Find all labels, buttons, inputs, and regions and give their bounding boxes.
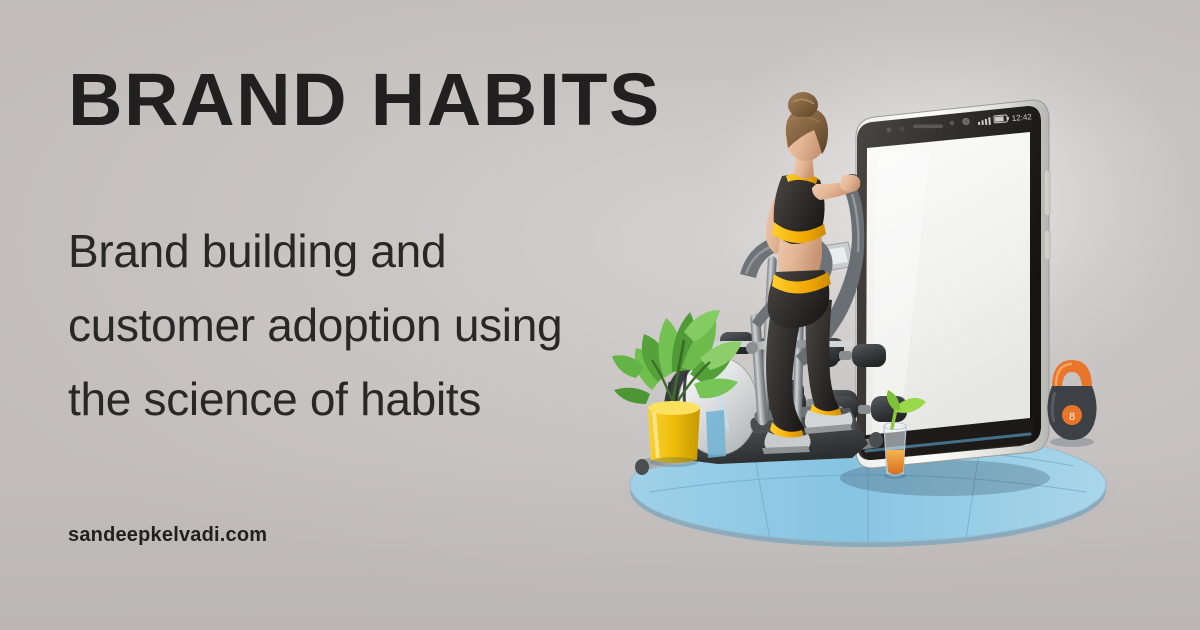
glass-liquid <box>886 450 905 474</box>
text-block: BRAND HABITS Brand building and customer… <box>68 62 768 436</box>
speaker-grille-icon <box>913 125 943 129</box>
subtitle-line-3: the science of habits <box>68 362 768 436</box>
phone-clock: 12:42 <box>1011 112 1032 123</box>
subtitle-line-1: Brand building and <box>68 214 768 288</box>
hand-right <box>840 175 860 192</box>
subtitle-line-2: customer adoption using <box>68 288 768 362</box>
sensor-icon <box>887 128 892 133</box>
led-indicator-icon <box>963 118 969 124</box>
site-url[interactable]: sandeepkelvadi.com <box>68 524 267 547</box>
phone-power-button <box>1044 230 1050 260</box>
hair-bun <box>788 92 818 118</box>
poster-canvas: 12:42 <box>0 0 1200 630</box>
front-camera-icon <box>899 126 904 131</box>
kettlebell: 8 <box>1047 360 1096 447</box>
page-title: BRAND HABITS <box>68 62 782 138</box>
proximity-sensor-icon <box>950 121 955 126</box>
svg-text:8: 8 <box>1069 411 1075 423</box>
page-subtitle: Brand building and customer adoption usi… <box>68 214 768 436</box>
phone-volume-button <box>1044 170 1050 216</box>
